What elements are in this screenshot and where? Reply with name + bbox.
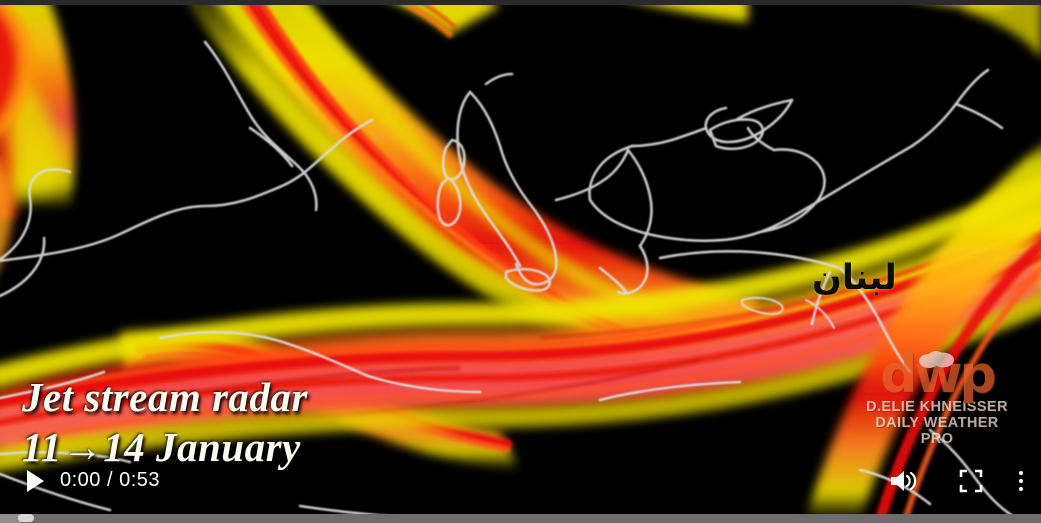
controls-row: 0:00 / 0:53 (0, 451, 1041, 509)
top-letterbox-strip (0, 0, 1041, 5)
fullscreen-icon (959, 469, 983, 493)
seek-bar[interactable] (0, 509, 1041, 523)
video-frame[interactable]: لبنان Jet stream radar 11→14 January 202… (0, 0, 1041, 523)
jet-stream-map (0, 0, 1041, 523)
video-player[interactable]: لبنان Jet stream radar 11→14 January 202… (0, 0, 1041, 523)
more-dot-3 (1019, 487, 1023, 491)
seek-thumb[interactable] (18, 514, 34, 522)
fullscreen-button[interactable] (951, 461, 991, 501)
more-options-button[interactable] (1007, 461, 1035, 501)
time-display: 0:00 / 0:53 (60, 469, 160, 492)
play-button[interactable] (12, 461, 54, 501)
more-dot-2 (1019, 479, 1023, 483)
play-icon (27, 470, 44, 492)
seek-track[interactable] (0, 514, 1041, 523)
more-dot-1 (1019, 471, 1023, 475)
player-controls: 0:00 / 0:53 (0, 451, 1041, 523)
volume-icon (888, 468, 918, 494)
volume-button[interactable] (883, 461, 923, 501)
